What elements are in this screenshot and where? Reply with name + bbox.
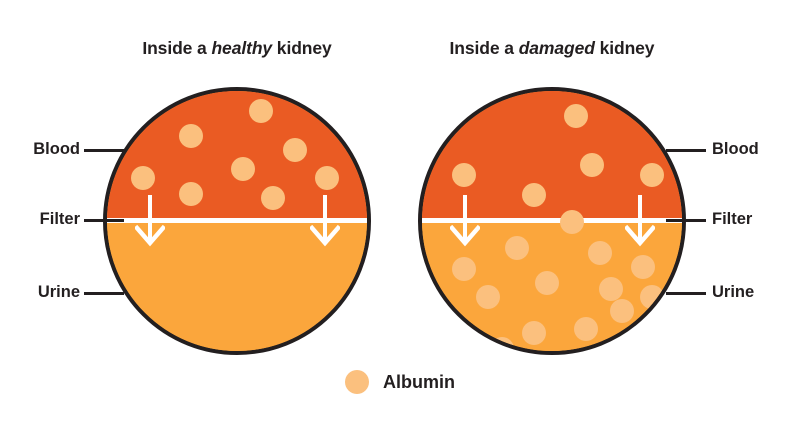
albumin-dot	[452, 257, 476, 281]
albumin-dot	[315, 166, 339, 190]
label-filter-left: Filter	[40, 210, 80, 229]
albumin-dot	[505, 236, 529, 260]
albumin-dot	[522, 321, 546, 345]
leader-line-blood-left	[84, 149, 124, 152]
albumin-dot	[599, 277, 623, 301]
title-prefix-damaged: Inside a	[450, 38, 519, 58]
albumin-dot	[588, 241, 612, 265]
leader-line-filter-left	[84, 219, 124, 222]
albumin-dot	[640, 285, 664, 309]
panel-title-damaged: Inside a damaged kidney	[402, 38, 702, 59]
albumin-dot	[580, 153, 604, 177]
albumin-dot	[249, 99, 273, 123]
kidney-damaged	[418, 87, 686, 355]
label-urine-left: Urine	[38, 283, 80, 302]
leader-line-urine-left	[84, 292, 124, 295]
kidney-filtration-diagram: Inside a healthy kidney Inside a damaged…	[0, 0, 800, 444]
leader-line-blood-right	[666, 149, 706, 152]
label-blood-right: Blood	[712, 140, 759, 159]
albumin-dot	[564, 104, 588, 128]
albumin-dot	[631, 255, 655, 279]
label-group-urine-left: Urine	[14, 283, 124, 303]
albumin-dot	[452, 163, 476, 187]
albumin-dot	[476, 285, 500, 309]
label-group-blood-right: Blood	[666, 140, 786, 160]
albumin-dot	[179, 124, 203, 148]
label-blood-left: Blood	[33, 140, 80, 159]
albumin-legend-icon	[345, 370, 369, 394]
title-suffix-damaged: kidney	[595, 38, 655, 58]
legend-label-albumin: Albumin	[383, 372, 455, 393]
albumin-dot	[535, 271, 559, 295]
title-emphasis-damaged: damaged	[519, 38, 595, 58]
flow-arrow-left-damaged	[450, 195, 480, 251]
albumin-dot	[640, 163, 664, 187]
albumin-dot	[131, 166, 155, 190]
albumin-dot-on-filter	[560, 210, 584, 234]
kidney-healthy	[103, 87, 371, 355]
albumin-dot	[574, 317, 598, 341]
flow-arrow-right-damaged	[625, 195, 655, 251]
albumin-dot	[610, 299, 634, 323]
legend: Albumin	[0, 370, 800, 394]
label-group-filter-right: Filter	[666, 210, 786, 230]
albumin-dot	[522, 183, 546, 207]
albumin-dot	[490, 337, 514, 355]
albumin-dot	[179, 182, 203, 206]
albumin-dot	[283, 138, 307, 162]
label-filter-right: Filter	[712, 210, 752, 229]
leader-line-urine-right	[666, 292, 706, 295]
leader-line-filter-right	[666, 219, 706, 222]
label-group-filter-left: Filter	[14, 210, 124, 230]
albumin-dot	[261, 186, 285, 210]
panel-title-healthy: Inside a healthy kidney	[87, 38, 387, 59]
title-suffix-healthy: kidney	[272, 38, 332, 58]
albumin-dot	[231, 157, 255, 181]
label-urine-right: Urine	[712, 283, 754, 302]
title-emphasis-healthy: healthy	[211, 38, 272, 58]
flow-arrow-right-healthy	[310, 195, 340, 251]
flow-arrow-left-healthy	[135, 195, 165, 251]
label-group-blood-left: Blood	[14, 140, 124, 160]
title-prefix-healthy: Inside a	[142, 38, 211, 58]
label-group-urine-right: Urine	[666, 283, 786, 303]
